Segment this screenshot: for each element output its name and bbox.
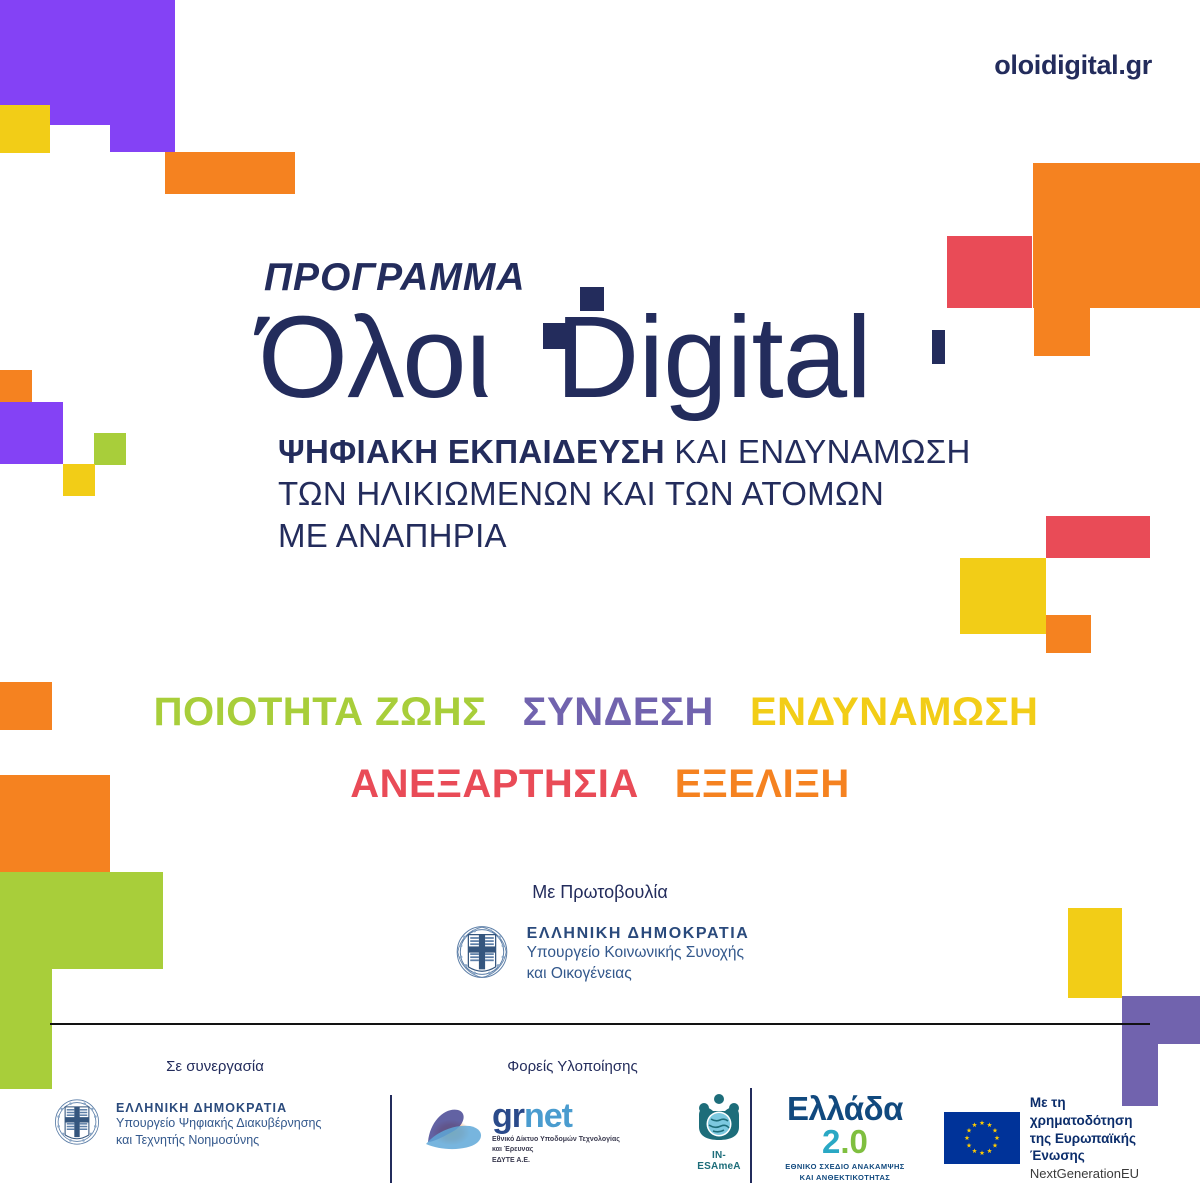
ellada-version-major: 2 [822,1123,840,1160]
ministry-name-line2: και Οικογένειας [527,964,750,984]
implementers-label: Φορείς Υλοποίησης [400,1058,745,1075]
deco-purple-l [0,402,63,464]
footer-collaboration-column: Σε συνεργασία [50,1058,380,1154]
program-logotype: Όλοι Digital [258,299,1018,415]
ministry-social-cohesion-lockup: ΕΛΛΗΝΙΚΗ ΔΗΜΟΚΡΑΤΙΑ Υπουργείο Κοινωνικής… [451,921,750,988]
deco-yellow-tl [0,105,50,153]
deco-orange-tl [165,152,295,194]
digital-ministry-name-line1: Υπουργείο Ψηφιακής Διακυβέρνησης [116,1115,321,1131]
program-subtitle: ΨΗΦΙΑΚΗ ΕΚΠΑΙΔΕΥΣΗ ΚΑΙ ΕΝΔΥΝΑΜΩΣΗ ΤΩΝ ΗΛ… [278,431,1018,558]
poster-canvas: oloidigital.gr ΠΡΟΓΡΑΜΜΑ Όλοι Digital ΨΗ… [0,0,1200,1200]
keyword-row-1: ΠΟΙΟΤΗΤΑ ΖΩΗΣΣΥΝΔΕΣΗΕΝΔΥΝΑΜΩΣΗ [0,692,1200,732]
digital-ministry-name-line2: και Τεχνητής Νοημοσύνης [116,1132,321,1148]
initiative-block: Με Πρωτοβουλία [0,882,1200,988]
deco-yellow-r [960,558,1046,634]
greek-coat-of-arms-icon [451,921,513,988]
deco-green-l [94,433,126,465]
eu-flag-icon [944,1112,1020,1164]
collaboration-label: Σε συνεργασία [50,1058,380,1075]
keyword-list: ΠΟΙΟΤΗΤΑ ΖΩΗΣΣΥΝΔΕΣΗΕΝΔΥΝΑΜΩΣΗ ΑΝΕΞΑΡΤΗΣ… [0,692,1200,804]
deco-purple-tl-4 [110,75,175,152]
ellada-wordmark: Ελλάδα 2.0 [770,1092,920,1158]
ministry-digital-governance-lockup: ΕΛΛΗΝΙΚΗ ΔΗΜΟΚΡΑΤΙΑ Υπουργείο Ψηφιακής Δ… [50,1095,380,1154]
footer-vertical-divider-2 [750,1088,752,1183]
deco-orange-r [1046,615,1091,653]
headline-block: ΠΡΟΓΡΑΜΜΑ Όλοι Digital ΨΗΦΙΑΚΗ ΕΚΠΑΙΔΕΥΣ… [258,258,1018,558]
inesamea-emblem-icon [693,1130,745,1147]
ellada-2-0-logo: Ελλάδα 2.0 ΕΘΝΙΚΟ ΣΧΕΔΙΟ ΑΝΑΚΑΜΨΗΣ ΚΑΙ Α… [770,1092,920,1183]
grnet-word-net: net [524,1097,572,1135]
keyword-3: ΕΝΔΥΝΑΜΩΣΗ [750,692,1038,732]
subtitle-line1-rest: ΚΑΙ ΕΝΔΥΝΑΜΩΣΗ [665,433,971,470]
logotype-greek: Όλοι [258,292,490,422]
grnet-logo: grnet Εθνικό Δίκτυο Υποδομών Τεχνολογίας… [424,1099,623,1165]
footer-divider [50,1023,1150,1025]
website-url[interactable]: oloidigital.gr [994,50,1152,81]
ellada-subtitle-line1: ΕΘΝΙΚΟ ΣΧΕΔΙΟ ΑΝΑΚΑΜΨΗΣ [770,1162,920,1173]
ministry-digital-governance-text: ΕΛΛΗΝΙΚΗ ΔΗΜΟΚΡΑΤΙΑ Υπουργείο Ψηφιακής Δ… [116,1101,321,1148]
eu-funding-text: Με τη χρηματοδότηση της Ευρωπαϊκής Ένωση… [1030,1094,1170,1180]
keyword-row-2: ΑΝΕΞΑΡΤΗΣΙΑΕΞΕΛΙΞΗ [0,764,1200,804]
grnet-tagline-line2: ΕΔΥΤΕ Α.Ε. [492,1156,623,1165]
ellada-version-minor: 0 [850,1123,868,1160]
ministry-social-cohesion-text: ΕΛΛΗΝΙΚΗ ΔΗΜΟΚΡΑΤΙΑ Υπουργείο Κοινωνικής… [527,925,750,984]
footer-block: Σε συνεργασία [0,1040,1200,1200]
grnet-tagline-line1: Εθνικό Δίκτυο Υποδομών Τεχνολογίας και Έ… [492,1135,623,1154]
eu-funding-line1: Με τη χρηματοδότηση [1030,1094,1170,1129]
footer-implementers-column: Φορείς Υλοποίησης [400,1058,745,1172]
subtitle-line3: ΜΕ ΑΝΑΠΗΡΙΑ [278,517,507,554]
footer-vertical-divider-1 [390,1095,392,1183]
deco-orange-l [0,370,32,402]
logotype-latin: Digital [556,292,871,422]
eu-funding-line2: της Ευρωπαϊκής Ένωσης [1030,1130,1170,1165]
keyword-1: ΠΟΙΟΤΗΤΑ ΖΩΗΣ [154,692,487,732]
digital-ministry-org-name: ΕΛΛΗΝΙΚΗ ΔΗΜΟΚΡΑΤΙΑ [116,1101,321,1115]
grnet-wordmark: grnet [492,1099,623,1133]
deco-orange-tr-2 [1033,163,1200,308]
inesamea-label: ΙΝ-ΕSΑmeΑ [693,1150,745,1172]
footer-funding-column: Ελλάδα 2.0 ΕΘΝΙΚΟ ΣΧΕΔΙΟ ΑΝΑΚΑΜΨΗΣ ΚΑΙ Α… [770,1092,1170,1183]
logotype-accent-square-upper [580,287,604,311]
ellada-version-dot: . [840,1123,849,1160]
deco-yellow-l [63,464,95,496]
deco-orange-tr-3 [1034,308,1090,356]
ellada-word: Ελλάδα [787,1090,903,1127]
greek-coat-of-arms-icon [50,1095,104,1154]
eu-next-generation-label: NextGenerationEU [1030,1166,1170,1181]
keyword-1: ΑΝΕΞΑΡΤΗΣΙΑ [350,764,639,804]
grnet-swoosh-icon [424,1104,486,1161]
ministry-name-line1: Υπουργείο Κοινωνικής Συνοχής [527,943,750,963]
initiative-label: Με Πρωτοβουλία [0,882,1200,903]
subtitle-line2: ΤΩΝ ΗΛΙΚΙΩΜΕΝΩΝ ΚΑΙ ΤΩΝ ΑΤΟΜΩΝ [278,475,884,512]
inesamea-logo: ΙΝ-ΕSΑmeΑ [693,1093,745,1172]
keyword-2: ΕΞΕΛΙΞΗ [675,764,850,804]
grnet-word-gr: gr [492,1097,524,1135]
subtitle-emphasis: ΨΗΦΙΑΚΗ ΕΚΠΑΙΔΕΥΣΗ [278,433,665,470]
ministry-org-name: ΕΛΛΗΝΙΚΗ ΔΗΜΟΚΡΑΤΙΑ [527,925,750,943]
keyword-2: ΣΥΝΔΕΣΗ [523,692,714,732]
logotype-accent-square-lower [543,323,569,349]
ellada-subtitle-line2: ΚΑΙ ΑΝΘΕΚΤΙΚΟΤΗΤΑΣ [770,1173,920,1184]
deco-red-r [1046,516,1150,558]
eu-funding-logo: Με τη χρηματοδότηση της Ευρωπαϊκής Ένωση… [944,1094,1170,1180]
